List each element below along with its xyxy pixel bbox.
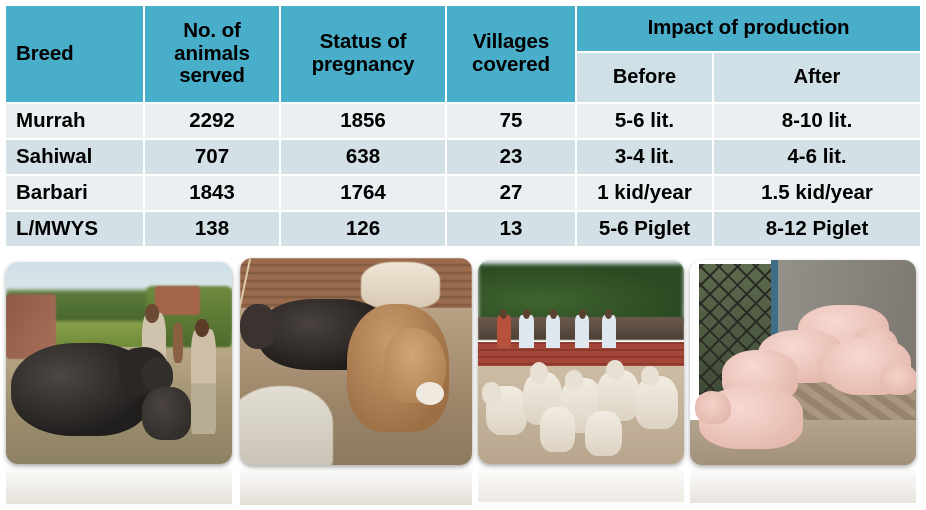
cell-served: 138 [145,212,279,246]
yorkshire-pigs-photo-reflection [690,465,916,503]
cell-villages: 75 [447,104,575,138]
column-header-after: After [714,53,920,102]
cell-after: 4-6 lit. [714,140,920,174]
cell-villages: 23 [447,140,575,174]
buffalo-murrah-photo-reflection [6,464,232,504]
cell-breed: L/MWYS [6,212,143,246]
cell-pregnancy: 126 [281,212,445,246]
slide-root: Breed No. of animals served Status of pr… [0,0,926,510]
cell-before: 5-6 Piglet [577,212,712,246]
column-header-before: Before [577,53,712,102]
sahiwal-cattle-photo [240,258,472,465]
table-row: Sahiwal 707 638 23 3-4 lit. 4-6 lit. [6,140,920,174]
cell-before: 5-6 lit. [577,104,712,138]
column-header-animals-served: No. of animals served [145,6,279,102]
table-row: L/MWYS 138 126 13 5-6 Piglet 8-12 Piglet [6,212,920,246]
header-line-3: served [149,65,275,88]
yorkshire-pigs-photo [690,260,916,465]
cell-pregnancy: 1764 [281,176,445,210]
header-line-2: pregnancy [285,54,441,77]
cell-served: 2292 [145,104,279,138]
column-header-status-of-pregnancy: Status of pregnancy [281,6,445,102]
cell-before: 1 kid/year [577,176,712,210]
table-header-row-main: Breed No. of animals served Status of pr… [6,6,920,51]
header-line-1: Villages [451,31,571,54]
cell-pregnancy: 638 [281,140,445,174]
cell-pregnancy: 1856 [281,104,445,138]
cell-breed: Murrah [6,104,143,138]
column-header-impact-of-production: Impact of production [577,6,920,51]
cell-served: 1843 [145,176,279,210]
barbari-goats-photo [478,260,684,464]
table-body: Murrah 2292 1856 75 5-6 lit. 8-10 lit. S… [6,104,920,246]
sahiwal-cattle-photo-reflection [240,465,472,505]
cell-breed: Barbari [6,176,143,210]
breed-statistics-table: Breed No. of animals served Status of pr… [4,4,922,248]
cell-villages: 27 [447,176,575,210]
header-line-1: No. of [149,20,275,43]
barbari-goats-photo-reflection [478,464,684,502]
breed-statistics-table-container: Breed No. of animals served Status of pr… [4,4,922,248]
header-line-2: covered [451,54,571,77]
cell-served: 707 [145,140,279,174]
buffalo-murrah-photo [6,262,232,464]
cell-breed: Sahiwal [6,140,143,174]
cell-villages: 13 [447,212,575,246]
header-line-2: animals [149,43,275,66]
table-row: Barbari 1843 1764 27 1 kid/year 1.5 kid/… [6,176,920,210]
photo-strip [0,258,926,510]
cell-after: 8-12 Piglet [714,212,920,246]
table-row: Murrah 2292 1856 75 5-6 lit. 8-10 lit. [6,104,920,138]
header-line-1: Status of [285,31,441,54]
cell-after: 1.5 kid/year [714,176,920,210]
column-header-villages-covered: Villages covered [447,6,575,102]
cell-before: 3-4 lit. [577,140,712,174]
column-header-breed: Breed [6,6,143,102]
cell-after: 8-10 lit. [714,104,920,138]
